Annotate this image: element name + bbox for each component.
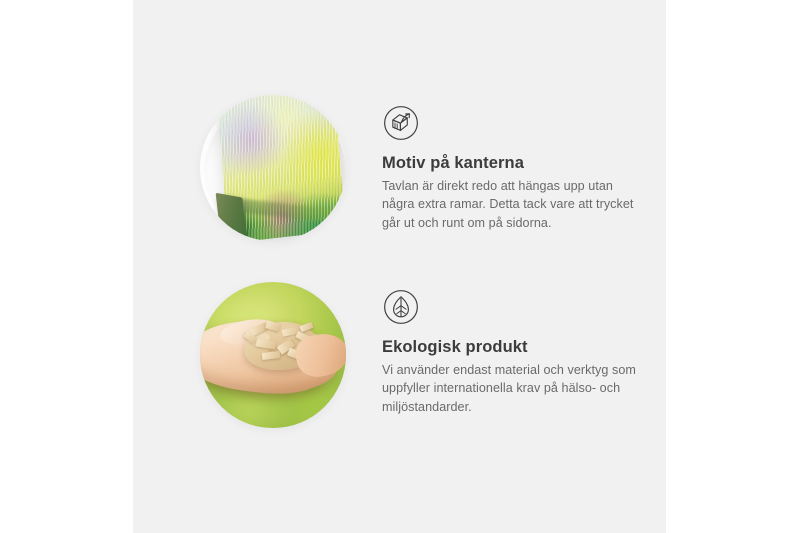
- hands-holding-wood-chips-photo: [200, 282, 346, 428]
- canvas-wrapped-edge-icon: [382, 104, 420, 142]
- feature-row-ekologisk-produkt: Ekologisk produkt Vi använder endast mat…: [200, 282, 642, 428]
- canvas-print-corner-photo: [200, 95, 346, 241]
- feature-description: Tavlan är direkt redo att hängas upp uta…: [382, 177, 642, 233]
- content-panel: [133, 0, 666, 533]
- feature-description: Vi använder endast material och verktyg …: [382, 361, 642, 417]
- feature-text-block: Motiv på kanterna Tavlan är direkt redo …: [382, 95, 642, 233]
- feature-title: Motiv på kanterna: [382, 154, 642, 174]
- product-feature-banner: Motiv på kanterna Tavlan är direkt redo …: [0, 0, 800, 533]
- feature-title: Ekologisk produkt: [382, 338, 642, 358]
- feature-row-motiv-pa-kanterna: Motiv på kanterna Tavlan är direkt redo …: [200, 95, 642, 241]
- feature-text-block: Ekologisk produkt Vi använder endast mat…: [382, 282, 642, 417]
- leaf-icon: [382, 288, 420, 326]
